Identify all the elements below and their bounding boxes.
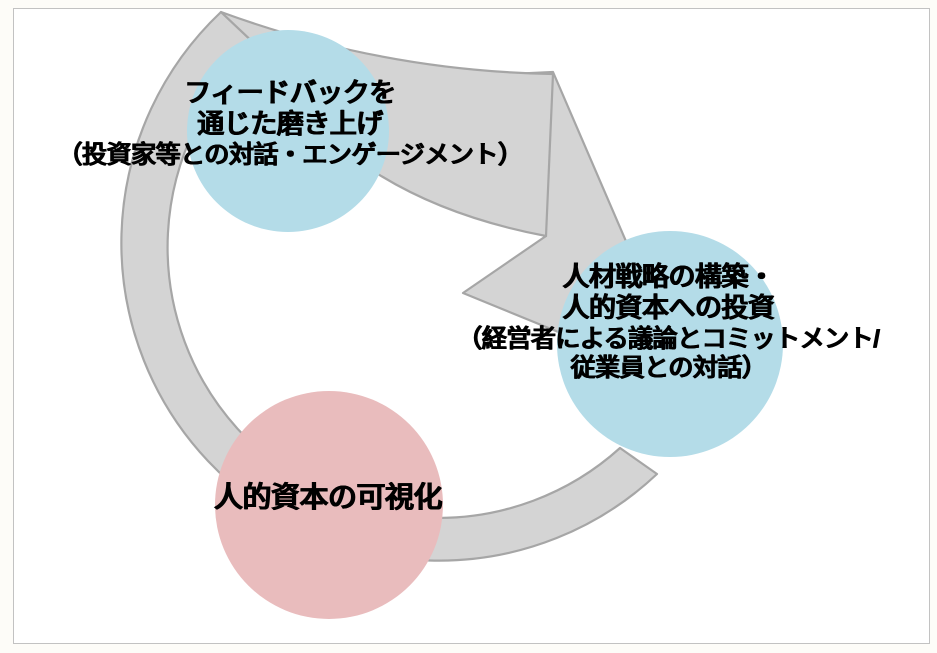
node-label-strategy: 人材戦略の構築・ 人的資本への投資 （経営者による議論とコミットメント/ 従業員… [400, 262, 937, 383]
visualize-line-1: 人的資本の可視化 [128, 482, 528, 516]
feedback-line-1: フィードバックを [0, 78, 580, 109]
strategy-line-1: 人材戦略の構築・ [400, 262, 937, 293]
node-label-visualize: 人的資本の可視化 [128, 482, 528, 516]
feedback-line-3: （投資家等との対話・エンゲージメント） [0, 141, 580, 170]
strategy-line-4: 従業員との対話） [400, 354, 937, 383]
diagram-canvas: フィードバックを 通じた磨き上げ （投資家等との対話・エンゲージメント） 人材戦… [0, 0, 937, 653]
strategy-line-3: （経営者による議論とコミットメント/ [400, 325, 937, 354]
strategy-line-2: 人的資本への投資 [400, 293, 937, 324]
feedback-line-2: 通じた磨き上げ [0, 109, 580, 140]
node-label-feedback: フィードバックを 通じた磨き上げ （投資家等との対話・エンゲージメント） [0, 78, 580, 170]
